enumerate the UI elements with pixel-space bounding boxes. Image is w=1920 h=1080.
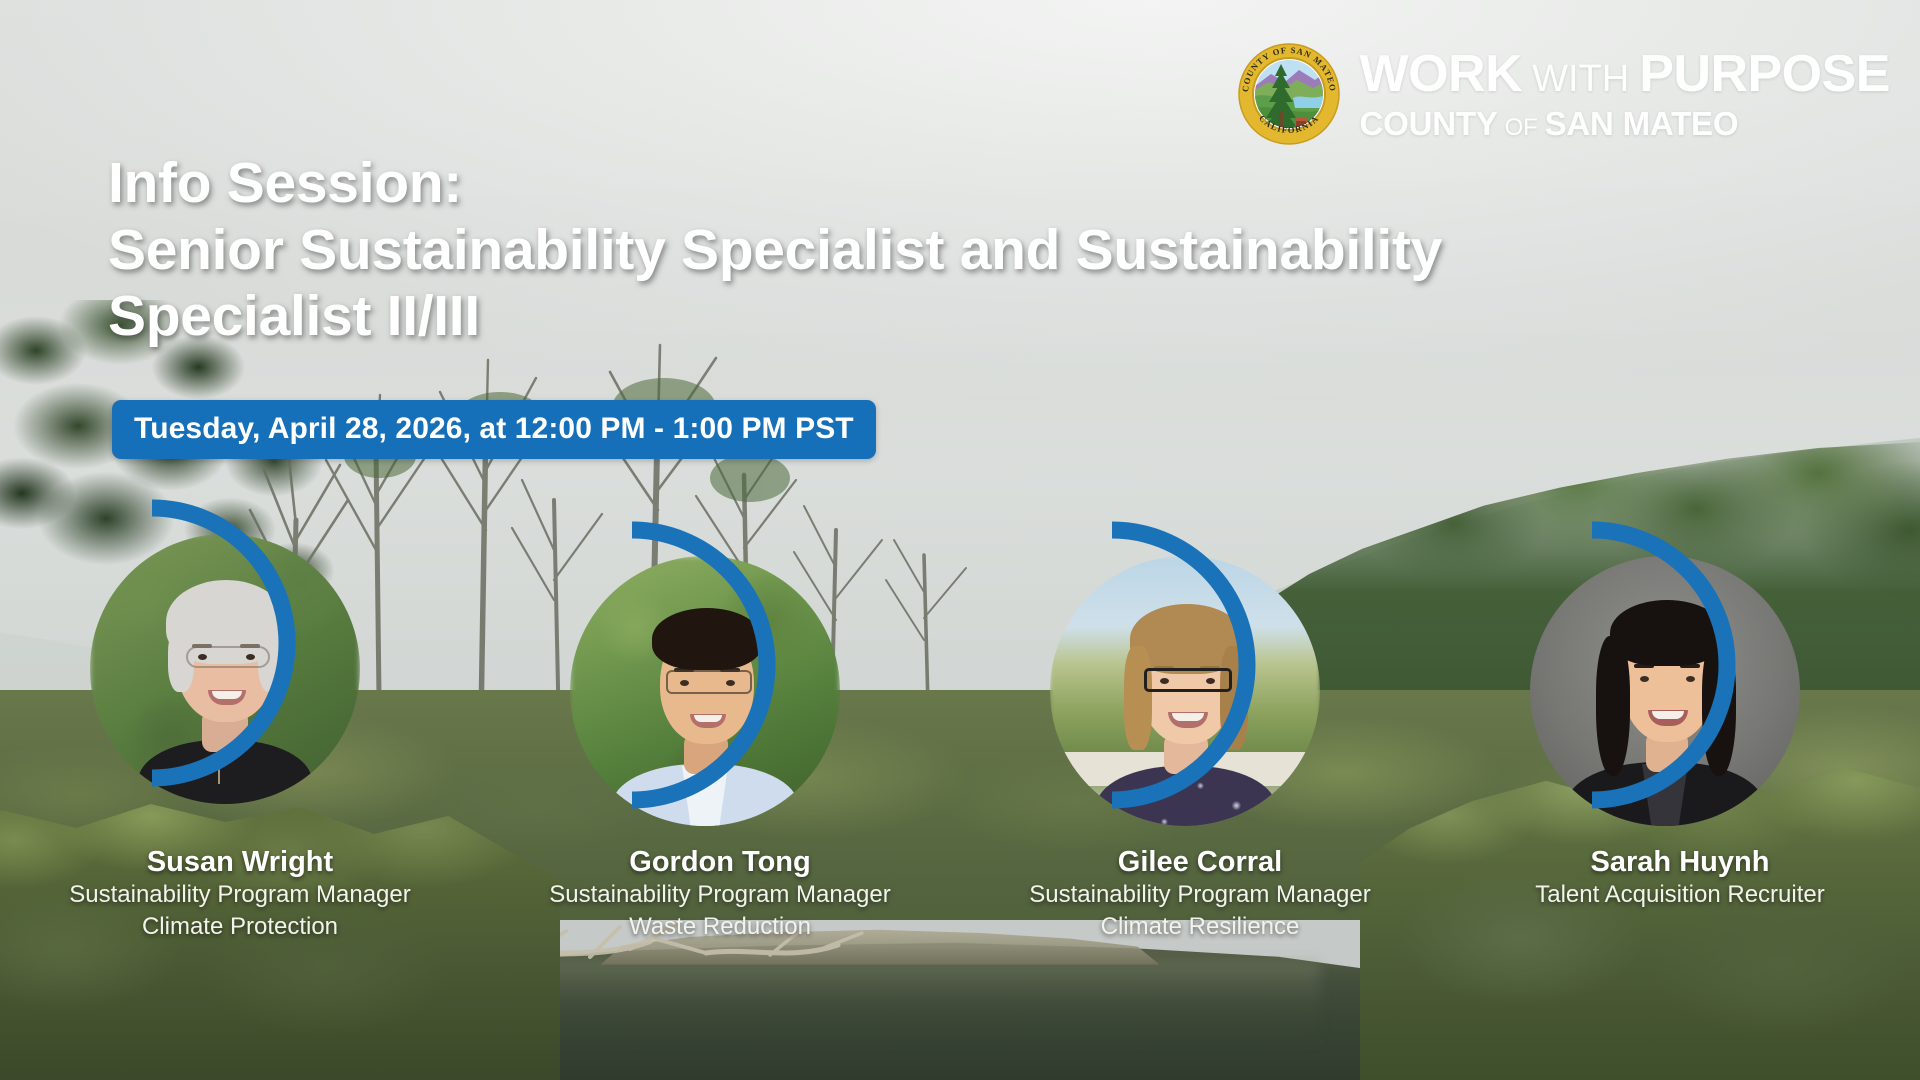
speaker-role-line-1: Sustainability Program Manager xyxy=(69,879,411,911)
speaker-role-line-1: Sustainability Program Manager xyxy=(1029,879,1371,911)
flyer-canvas: COUNTY OF SAN MATEO CALIFORNIA WORKWITHP… xyxy=(0,0,1920,1080)
avatar-photo xyxy=(1050,556,1320,826)
avatar-photo xyxy=(570,556,840,826)
speaker-name: Susan Wright xyxy=(147,846,333,879)
brand-with: WITH xyxy=(1532,60,1629,98)
speaker-role-line-2: Climate Protection xyxy=(142,911,338,943)
brand-line-secondary: COUNTYOFSAN MATEO xyxy=(1359,107,1890,140)
brand-county: COUNTY xyxy=(1359,107,1497,140)
brand-line-primary: WORKWITHPURPOSE xyxy=(1359,48,1890,100)
brand-san-mateo: SAN MATEO xyxy=(1545,107,1739,140)
speaker-role-line-1: Sustainability Program Manager xyxy=(549,879,891,911)
portrait-wrap xyxy=(90,520,390,820)
portrait-wrap xyxy=(570,542,870,842)
brand-wordmark: WORKWITHPURPOSE COUNTYOFSAN MATEO xyxy=(1359,48,1890,140)
brand-of: OF xyxy=(1505,116,1538,140)
speakers-row: Susan Wright Sustainability Program Mana… xyxy=(0,520,1920,1040)
brand-work: WORK xyxy=(1359,48,1522,100)
title-line-1: Info Session: xyxy=(108,150,1442,217)
brand-lockup: COUNTY OF SAN MATEO CALIFORNIA WORKWITHP… xyxy=(1237,42,1890,146)
speaker-card: Gilee Corral Sustainability Program Mana… xyxy=(960,520,1440,942)
title-line-2: Senior Sustainability Specialist and Sus… xyxy=(108,217,1442,284)
avatar-photo xyxy=(90,534,360,804)
speaker-role-line-1: Talent Acquisition Recruiter xyxy=(1535,879,1824,911)
event-datetime-badge: Tuesday, April 28, 2026, at 12:00 PM - 1… xyxy=(112,400,876,459)
avatar-photo xyxy=(1530,556,1800,826)
speaker-card: Gordon Tong Sustainability Program Manag… xyxy=(480,520,960,942)
speaker-name: Gilee Corral xyxy=(1118,846,1282,879)
avatar-sarah-huynh xyxy=(1530,556,1800,826)
speaker-role-line-2: Waste Reduction xyxy=(629,911,811,943)
speaker-card: Sarah Huynh Talent Acquisition Recruiter xyxy=(1440,520,1920,911)
speaker-role-line-2: Climate Resilience xyxy=(1101,911,1300,943)
speaker-name: Gordon Tong xyxy=(629,846,810,879)
speaker-card: Susan Wright Sustainability Program Mana… xyxy=(0,520,480,942)
title-line-3: Specialist II/III xyxy=(108,283,1442,350)
page-title: Info Session: Senior Sustainability Spec… xyxy=(108,150,1442,350)
speaker-name: Sarah Huynh xyxy=(1591,846,1770,879)
avatar-gilee-corral xyxy=(1050,556,1320,826)
avatar-susan-wright xyxy=(90,534,360,804)
portrait-wrap xyxy=(1530,542,1830,842)
portrait-wrap xyxy=(1050,542,1350,842)
avatar-gordon-tong xyxy=(570,556,840,826)
brand-purpose: PURPOSE xyxy=(1639,48,1890,100)
county-seal-icon: COUNTY OF SAN MATEO CALIFORNIA xyxy=(1237,42,1341,146)
